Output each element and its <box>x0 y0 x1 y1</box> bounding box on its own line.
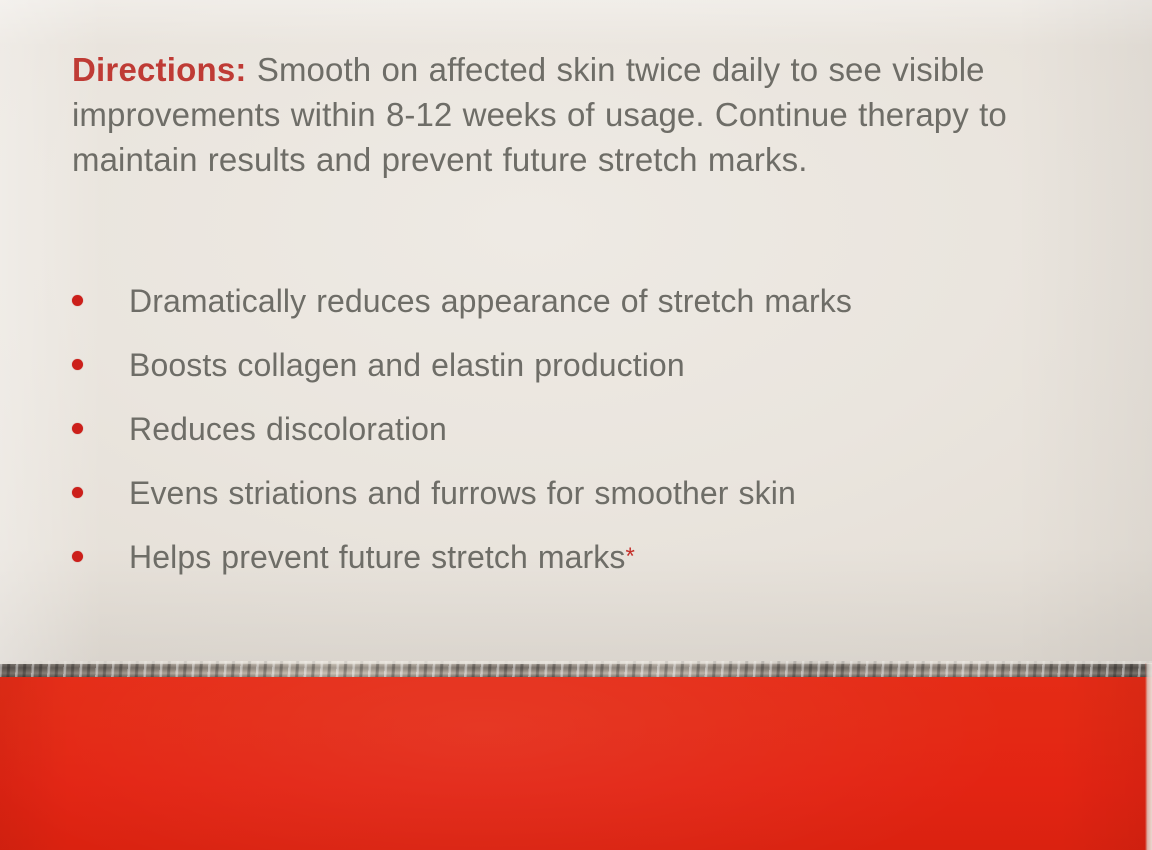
directions-paragraph: Directions: Smooth on affected skin twic… <box>72 47 1062 182</box>
metallic-foil-divider <box>0 661 1152 678</box>
benefit-text-label: Helps prevent future stretch marks <box>129 539 625 575</box>
benefit-text: Evens striations and furrows for smoothe… <box>129 474 796 512</box>
bullet-dot-icon <box>72 487 83 498</box>
directions-label: Directions: <box>72 51 247 88</box>
list-item: Helps prevent future stretch marks* <box>72 538 1072 602</box>
list-item: Evens striations and furrows for smoothe… <box>72 474 1072 538</box>
bullet-dot-icon <box>72 359 83 370</box>
product-carton-back-panel: Directions: Smooth on affected skin twic… <box>0 0 1152 850</box>
list-item: Boosts collagen and elastin production <box>72 346 1072 410</box>
red-color-band <box>0 677 1152 850</box>
carton-right-edge-highlight <box>1145 663 1152 850</box>
bullet-dot-icon <box>72 551 83 562</box>
benefit-text: Reduces discoloration <box>129 410 447 448</box>
bullet-dot-icon <box>72 295 83 306</box>
benefit-text: Boosts collagen and elastin production <box>129 346 685 384</box>
benefit-text: Dramatically reduces appearance of stret… <box>129 282 852 320</box>
list-item: Dramatically reduces appearance of stret… <box>72 282 1072 346</box>
list-item: Reduces discoloration <box>72 410 1072 474</box>
benefit-text: Helps prevent future stretch marks* <box>129 538 635 576</box>
directions-section: Directions: Smooth on affected skin twic… <box>72 47 1062 182</box>
bullet-dot-icon <box>72 423 83 434</box>
footnote-asterisk: * <box>625 543 634 570</box>
benefits-list: Dramatically reduces appearance of stret… <box>72 282 1072 602</box>
